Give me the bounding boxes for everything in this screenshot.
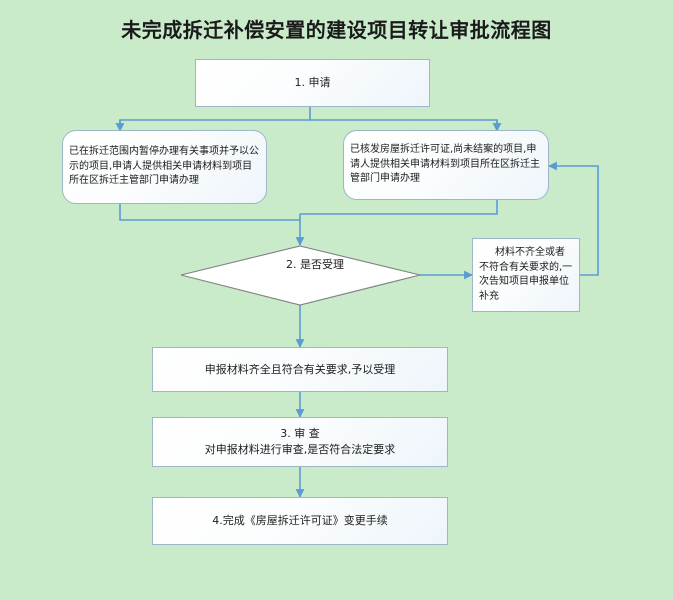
node-finish[interactable]: 4.完成《房屋拆迁许可证》变更手续: [152, 497, 448, 545]
node-branch-left[interactable]: 已在拆迁范围内暂停办理有关事项并予以公示的项目,申请人提供相关申请材料到项目所在…: [62, 130, 267, 204]
node-review[interactable]: 3. 审 查 对申报材料进行审查,是否符合法定要求: [152, 417, 448, 467]
node-review-line1: 3. 审 查: [159, 426, 441, 442]
node-reject-note[interactable]: 材料不齐全或者不符合有关要求的,一次告知项目申报单位补充: [472, 238, 580, 312]
node-review-line2: 对申报材料进行审查,是否符合法定要求: [159, 442, 441, 458]
node-branch-right-label: 已核发房屋拆迁许可证,尚未结案的项目,申请人提供相关申请材料到项目所在区拆迁主管…: [344, 143, 548, 187]
node-start-label: 1. 申请: [196, 75, 429, 91]
page-title: 未完成拆迁补偿安置的建设项目转让审批流程图: [0, 14, 673, 43]
node-layer: 1. 申请 已在拆迁范围内暂停办理有关事项并予以公示的项目,申请人提供相关申请材…: [0, 0, 673, 600]
node-accept-label: 申报材料齐全且符合有关要求,予以受理: [153, 362, 447, 378]
node-accept[interactable]: 申报材料齐全且符合有关要求,予以受理: [152, 347, 448, 392]
node-branch-right[interactable]: 已核发房屋拆迁许可证,尚未结案的项目,申请人提供相关申请材料到项目所在区拆迁主管…: [343, 130, 549, 200]
node-decision-label: 2. 是否受理: [286, 256, 344, 272]
node-start[interactable]: 1. 申请: [195, 59, 430, 107]
flowchart-canvas: 未完成拆迁补偿安置的建设项目转让审批流程图: [0, 0, 673, 600]
node-review-text: 3. 审 查 对申报材料进行审查,是否符合法定要求: [153, 426, 447, 458]
node-reject-note-label: 材料不齐全或者不符合有关要求的,一次告知项目申报单位补充: [473, 246, 579, 304]
node-branch-left-label: 已在拆迁范围内暂停办理有关事项并予以公示的项目,申请人提供相关申请材料到项目所在…: [63, 145, 266, 189]
node-finish-label: 4.完成《房屋拆迁许可证》变更手续: [153, 513, 447, 529]
node-decision: 2. 是否受理: [240, 253, 390, 275]
